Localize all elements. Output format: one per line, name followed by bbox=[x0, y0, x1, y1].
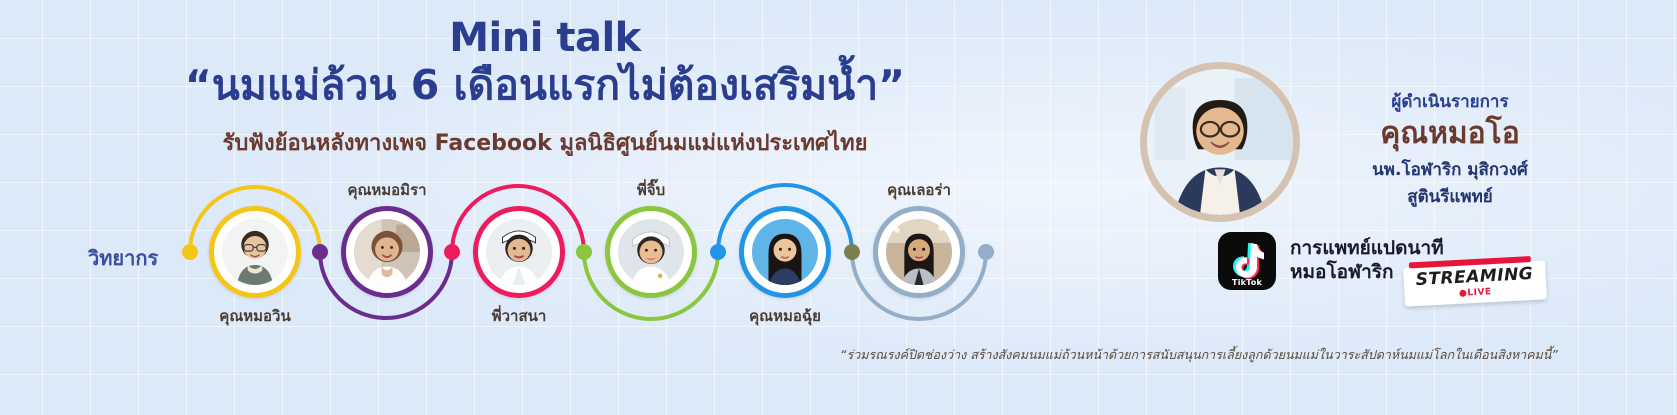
speaker-ring-3 bbox=[605, 206, 697, 298]
node-dot-3 bbox=[576, 244, 592, 260]
host-avatar bbox=[1140, 62, 1300, 222]
page-title: Mini talk bbox=[0, 16, 1090, 60]
channel-line-1: การแพทย์แปดนาที bbox=[1290, 237, 1444, 261]
host-nickname: คุณหมอโอ bbox=[1300, 117, 1600, 150]
campaign-caption: “ร่วมรณรงค์ปิดช่องว่าง สร้างสังคมนมแม่ถ้… bbox=[840, 345, 1650, 365]
speaker-card-4[interactable]: คุณหมอฉุ้ย bbox=[739, 206, 831, 298]
speaker-name-0: คุณหมอวิน bbox=[219, 304, 290, 328]
tiktok-note-glyph bbox=[1230, 242, 1264, 280]
avatar bbox=[219, 216, 291, 288]
host-info: ผู้ดำเนินรายการ คุณหมอโอ นพ.โอฬาริก มุสิ… bbox=[1300, 88, 1600, 210]
speaker-card-3[interactable]: พี่จิ๊บ bbox=[605, 206, 697, 298]
speaker-photo-4 bbox=[752, 219, 818, 285]
tiktok-logo-caption: TikTok bbox=[1218, 278, 1276, 287]
avatar bbox=[615, 216, 687, 288]
avatar bbox=[749, 216, 821, 288]
node-dot-5 bbox=[844, 244, 860, 260]
speaker-ring-1 bbox=[341, 206, 433, 298]
speaker-card-2[interactable]: พี่วาสนา bbox=[473, 206, 565, 298]
speaker-card-0[interactable]: คุณหมอวิน bbox=[209, 206, 301, 298]
speaker-photo-5 bbox=[886, 219, 952, 285]
speaker-name-4: คุณหมอฉุ้ย bbox=[749, 304, 821, 328]
speaker-ring-5 bbox=[873, 206, 965, 298]
host-photo bbox=[1147, 69, 1293, 215]
host-specialty: สูตินรีแพทย์ bbox=[1300, 183, 1600, 210]
header-block: Mini talk “นมแม่ล้วน 6 เดือนแรกไม่ต้องเส… bbox=[0, 16, 1090, 160]
avatar bbox=[483, 216, 555, 288]
speaker-photo-1 bbox=[354, 219, 420, 285]
tiktok-icon[interactable]: TikTok bbox=[1218, 232, 1276, 290]
avatar bbox=[883, 216, 955, 288]
speaker-ring-2 bbox=[473, 206, 565, 298]
speaker-card-5[interactable]: คุณเลอร่า bbox=[873, 206, 965, 298]
replay-subtitle: รับฟังย้อนหลังทางเพจ Facebook มูลนิธิศูน… bbox=[0, 125, 1090, 160]
talk-topic-title: “นมแม่ล้วน 6 เดือนแรกไม่ต้องเสริมน้ำ” bbox=[0, 62, 1090, 109]
speaker-photo-0 bbox=[222, 219, 288, 285]
node-dot-6 bbox=[978, 244, 994, 260]
node-dot-4 bbox=[710, 244, 726, 260]
speaker-name-1: คุณหมอมิรา bbox=[347, 178, 426, 202]
speaker-name-2: พี่วาสนา bbox=[492, 304, 547, 328]
speaker-photo-3 bbox=[618, 219, 684, 285]
promo-banner: Mini talk “นมแม่ล้วน 6 เดือนแรกไม่ต้องเส… bbox=[0, 0, 1677, 415]
speaker-ring-4 bbox=[739, 206, 831, 298]
speaker-card-1[interactable]: คุณหมอมิรา bbox=[341, 206, 433, 298]
host-role-label: ผู้ดำเนินรายการ bbox=[1300, 88, 1600, 115]
speaker-rail: วิทยากร bbox=[0, 180, 1080, 340]
node-dot-1 bbox=[312, 244, 328, 260]
speaker-ring-0 bbox=[209, 206, 301, 298]
speaker-name-5: คุณเลอร่า bbox=[887, 178, 951, 202]
node-dot-2 bbox=[444, 244, 460, 260]
avatar bbox=[351, 216, 423, 288]
host-full-name: นพ.โอฬาริก มุสิกวงศ์ bbox=[1300, 156, 1600, 183]
node-dot-0 bbox=[182, 244, 198, 260]
speaker-photo-2 bbox=[486, 219, 552, 285]
streaming-badge: STREAMING ●LIVE bbox=[1403, 260, 1546, 306]
speaker-name-3: พี่จิ๊บ bbox=[637, 178, 665, 202]
